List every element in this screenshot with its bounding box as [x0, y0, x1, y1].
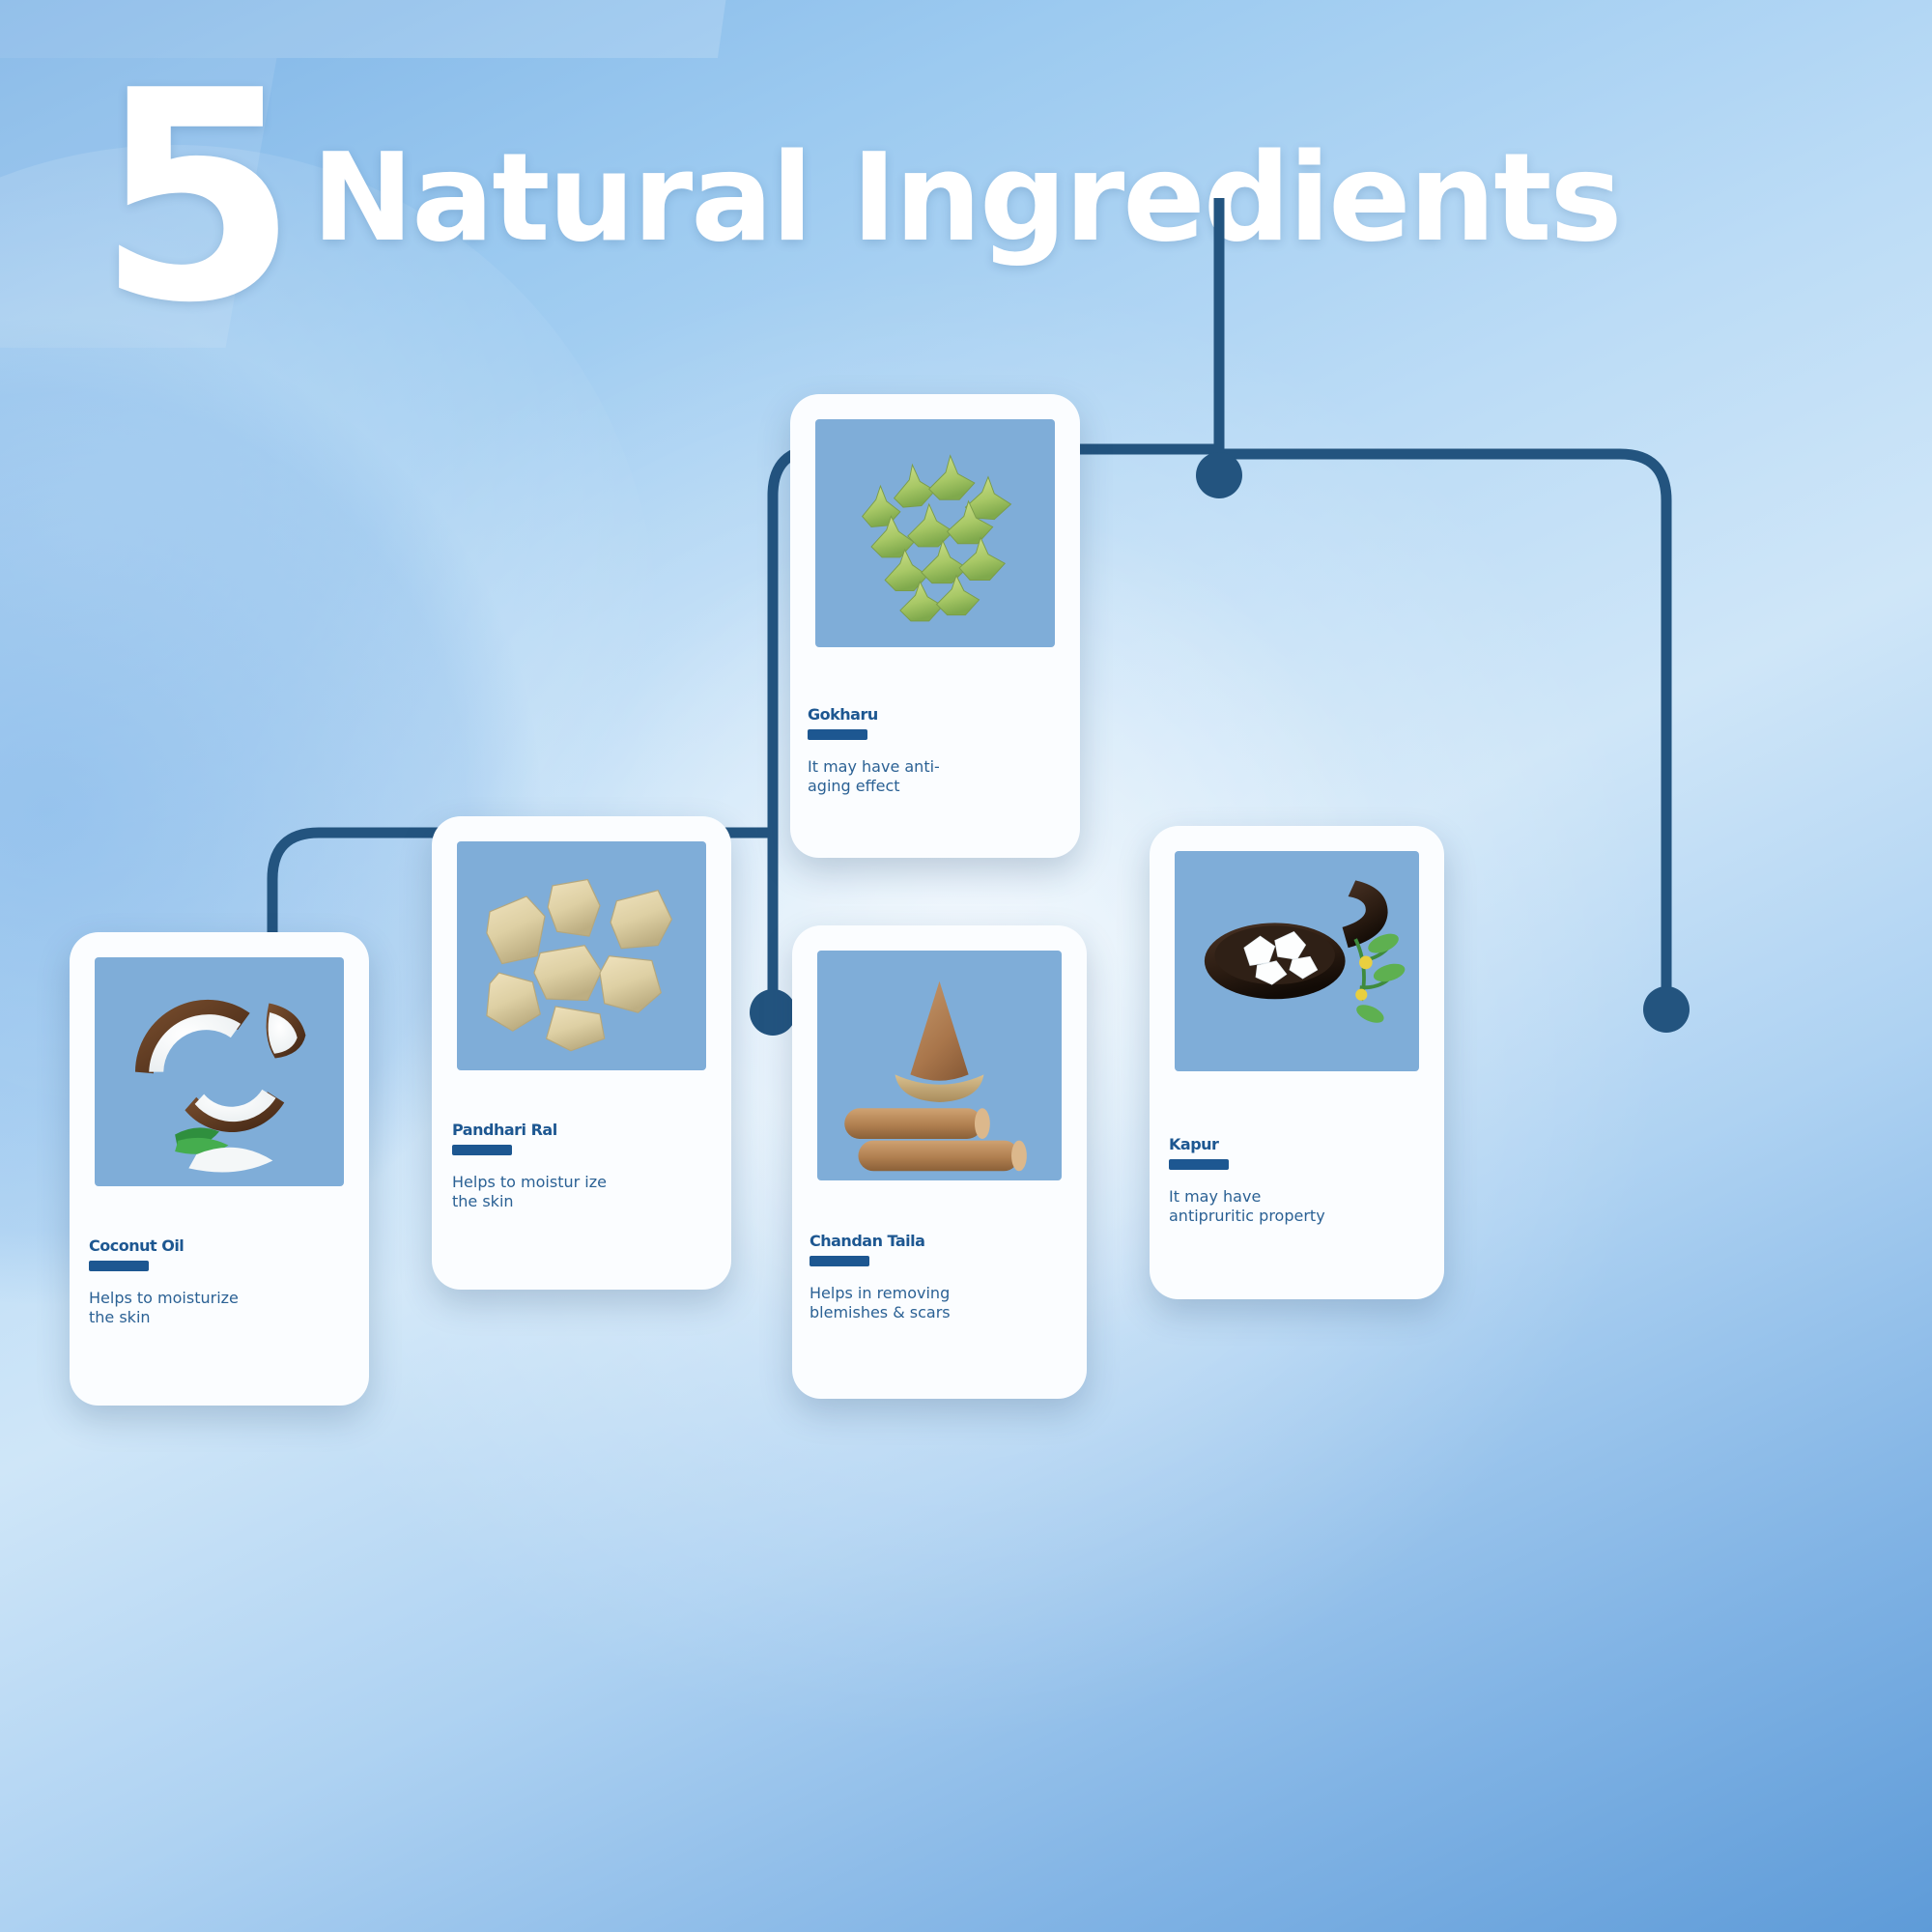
ingredient-description-line-2: antipruritic property — [1169, 1207, 1488, 1226]
infographic-canvas: 5 Natural Ingredients — [0, 0, 1932, 1932]
connector-dot-kapur — [1643, 986, 1690, 1033]
title-underline-accent — [89, 1261, 149, 1271]
ingredient-text-pandhari-ral: Pandhari Ral Helps to moistur ize the sk… — [452, 1121, 771, 1212]
connector-dot-pandhari — [750, 989, 796, 1036]
ingredient-description-line-2: aging effect — [808, 777, 1097, 796]
ingredient-text-coconut-oil: Coconut Oil Helps to moisturize the skin — [89, 1236, 408, 1328]
ingredient-name: Kapur — [1169, 1135, 1488, 1153]
title-underline-accent — [1169, 1159, 1229, 1170]
sandalwood-powder-and-logs-image — [817, 951, 1062, 1180]
camphor-crystals-in-spoon-image — [1175, 851, 1419, 1071]
ingredient-description-line-1: It may have — [1169, 1187, 1488, 1207]
ingredient-description-line-2: blemishes & scars — [810, 1303, 1109, 1322]
title-underline-accent — [452, 1145, 512, 1155]
ingredient-name: Chandan Taila — [810, 1232, 1109, 1250]
ingredient-description-line-1: It may have anti- — [808, 757, 1097, 777]
ingredient-name: Gokharu — [808, 705, 1097, 724]
ingredient-text-gokharu: Gokharu It may have anti- aging effect — [808, 705, 1097, 797]
ingredient-card-kapur[interactable] — [1150, 826, 1444, 1299]
ingredient-card-pandhari-ral[interactable] — [432, 816, 731, 1290]
ingredient-name: Coconut Oil — [89, 1236, 408, 1255]
ingredient-description-line-1: Helps in removing — [810, 1284, 1109, 1303]
coconut-halves-image — [95, 957, 344, 1186]
ingredient-text-kapur: Kapur It may have antipruritic property — [1169, 1135, 1488, 1227]
gokharu-seed-pods-image — [815, 419, 1055, 647]
ingredient-card-chandan-taila[interactable] — [792, 925, 1087, 1399]
ingredient-description-line-1: Helps to moistur ize — [452, 1173, 771, 1192]
connector-dot-gokharu — [1196, 452, 1242, 498]
title-underline-accent — [810, 1256, 869, 1266]
ingredient-name: Pandhari Ral — [452, 1121, 771, 1139]
ingredient-text-chandan-taila: Chandan Taila Helps in removing blemishe… — [810, 1232, 1109, 1323]
ingredient-card-coconut-oil[interactable] — [70, 932, 369, 1406]
ingredient-description-line-1: Helps to moisturize — [89, 1289, 408, 1308]
title-underline-accent — [808, 729, 867, 740]
ingredient-description-line-2: the skin — [452, 1192, 771, 1211]
ingredient-description-line-2: the skin — [89, 1308, 408, 1327]
pandhari-ral-resin-chunks-image — [457, 841, 706, 1070]
